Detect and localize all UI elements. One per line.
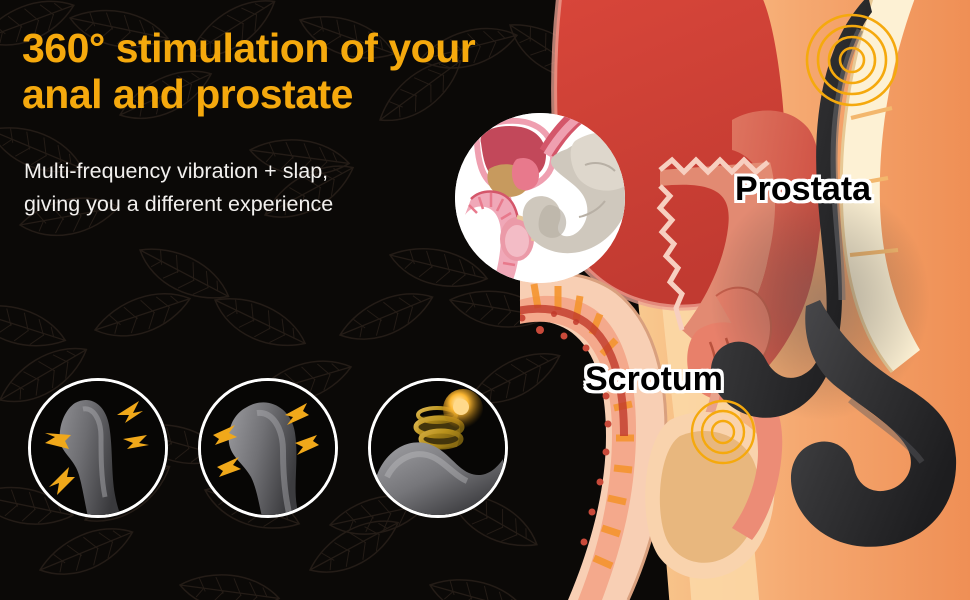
subline-line-2: giving you a different experience (24, 188, 484, 221)
page-subtitle: Multi-frequency vibration + slap, giving… (24, 155, 484, 222)
feature-1-svg (31, 381, 165, 515)
feature-circle-vibration-out (28, 378, 168, 518)
page-title: 360° stimulation of your anal and prosta… (22, 26, 622, 118)
label-prostata: Prostata (735, 170, 871, 209)
feature-circle-rotation (368, 378, 508, 518)
headline-line-2: anal and prostate (22, 72, 622, 118)
feature-2-svg (201, 381, 335, 515)
feature-3-svg (371, 381, 505, 515)
label-scrotum: Scrotum (585, 360, 723, 399)
feature-circle-slap-in (198, 378, 338, 518)
headline-line-1: 360° stimulation of your (22, 26, 622, 72)
inset-testicle-inner (505, 225, 529, 257)
product-banner: Prostata Scrotum (0, 0, 970, 600)
glow-orb-core (453, 399, 469, 415)
subline-line-1: Multi-frequency vibration + slap, (24, 155, 484, 188)
